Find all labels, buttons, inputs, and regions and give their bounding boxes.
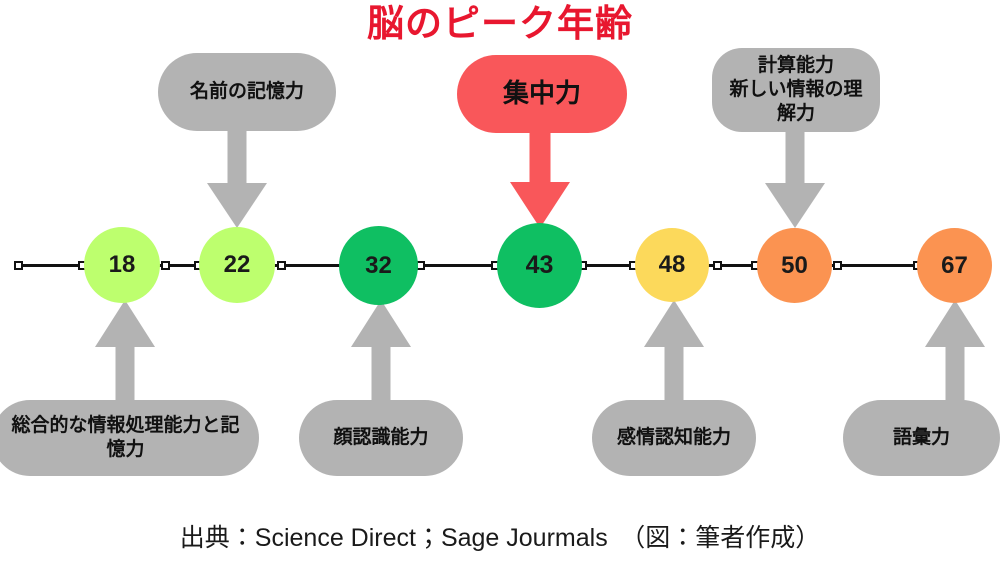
timeline-handle-2[interactable] [161, 261, 170, 270]
timeline-handle-4[interactable] [277, 261, 286, 270]
arrow-up-32 [351, 300, 411, 410]
node-age-67: 67 [941, 252, 968, 280]
callout-label-names-memory: 名前の記憶力 [190, 80, 304, 104]
timeline-node-43[interactable]: 43 [497, 223, 582, 308]
timeline-node-22[interactable]: 22 [199, 227, 275, 303]
node-age-50: 50 [781, 252, 808, 280]
arrow-up-67 [925, 300, 985, 410]
arrow-up-18 [95, 300, 155, 410]
timeline-node-50[interactable]: 50 [757, 228, 832, 303]
callout-label-processing-memory: 総合的な情報処理能力と記憶力 [4, 414, 247, 463]
timeline-handle-start[interactable] [14, 261, 23, 270]
callout-label-concentration: 集中力 [503, 77, 581, 110]
arrow-down-22 [207, 128, 267, 228]
arrow-up-48 [644, 300, 704, 410]
callout-bubble-top-43: 集中力 [457, 55, 627, 133]
arrow-down-50 [765, 128, 825, 228]
callout-bubble-bottom-48: 感情認知能力 [592, 400, 756, 476]
callout-label-face-recognition: 顔認識能力 [333, 426, 428, 450]
callout-bubble-bottom-18: 総合的な情報処理能力と記憶力 [0, 400, 259, 476]
infographic-canvas: 脳のピーク年齢 名前の記憶力 集中力 計算能力 新しい情報の理解力 [0, 0, 1000, 563]
node-age-43: 43 [526, 251, 554, 280]
callout-bubble-top-50: 計算能力 新しい情報の理解力 [712, 48, 880, 132]
callout-label-emotion-recognition: 感情認知能力 [617, 426, 731, 450]
callout-label-calculation: 計算能力 新しい情報の理解力 [724, 54, 868, 127]
timeline-handle-11[interactable] [833, 261, 842, 270]
source-caption: 出典：Science Direct；Sage Jourmals （図：筆者作成） [0, 518, 1000, 554]
node-age-22: 22 [224, 251, 251, 279]
node-age-18: 18 [109, 251, 136, 279]
callout-bubble-top-22: 名前の記憶力 [158, 53, 336, 131]
page-title: 脳のピーク年齢 [0, 2, 1000, 46]
timeline-handle-9[interactable] [713, 261, 722, 270]
timeline-node-67[interactable]: 67 [917, 228, 992, 303]
node-age-32: 32 [365, 252, 392, 280]
callout-bubble-bottom-32: 顔認識能力 [299, 400, 463, 476]
callout-label-vocabulary: 語彙力 [893, 426, 950, 450]
node-age-48: 48 [659, 251, 686, 279]
callout-bubble-bottom-67: 語彙力 [843, 400, 1000, 476]
arrow-down-43 [510, 130, 570, 230]
timeline-node-32[interactable]: 32 [339, 226, 418, 305]
timeline-node-18[interactable]: 18 [84, 227, 160, 303]
timeline-node-48[interactable]: 48 [635, 228, 709, 302]
